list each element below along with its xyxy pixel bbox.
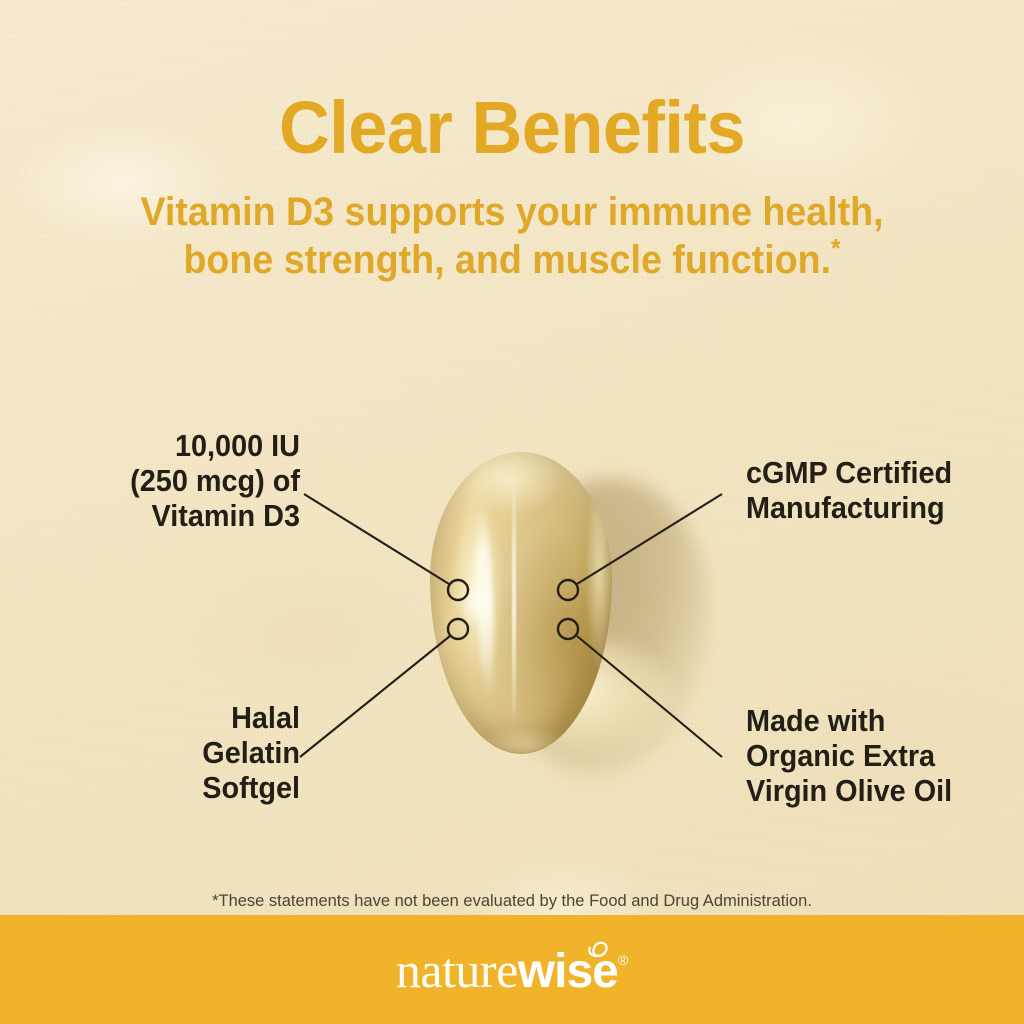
capsule-glint <box>460 580 490 624</box>
capsule-seam <box>512 462 516 730</box>
product-image-softgel <box>380 430 720 820</box>
callout-cgmp-certified: cGMP Certified Manufacturing <box>746 455 995 525</box>
callout-dosage: 10,000 IU (250 mcg) of Vitamin D3 <box>49 428 300 533</box>
disclaimer-line-1: *These statements have not been evaluate… <box>0 889 1024 914</box>
subtitle-line-2: bone strength, and muscle function. <box>183 238 831 282</box>
brand-footer-band: naturewise® <box>0 915 1024 1024</box>
logo-text-nature: nature <box>396 942 518 998</box>
infographic-page: Clear Benefits Vitamin D3 supports your … <box>0 0 1024 1024</box>
subtitle-line-1: Vitamin D3 supports your immune health, <box>31 188 994 236</box>
callout-olive-oil: Made with Organic Extra Virgin Olive Oil <box>746 703 995 808</box>
subtitle: Vitamin D3 supports your immune health, … <box>31 188 994 284</box>
leaf-icon <box>578 939 612 969</box>
page-title: Clear Benefits <box>26 88 999 168</box>
subtitle-line-2-wrapper: bone strength, and muscle function.* <box>31 236 994 284</box>
callout-halal-gelatin: Halal Gelatin Softgel <box>49 700 300 805</box>
logo-registered-mark: ® <box>618 952 628 968</box>
naturewise-logo: naturewise® <box>0 941 1024 1001</box>
subtitle-asterisk: * <box>831 233 841 263</box>
